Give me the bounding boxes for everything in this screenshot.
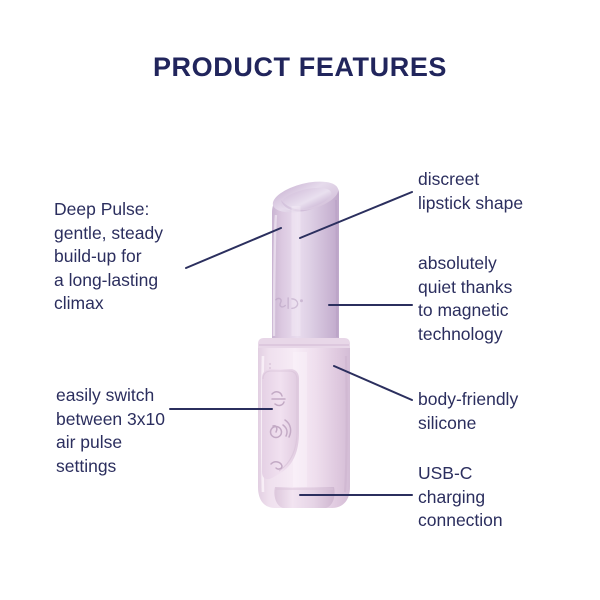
callout-discreet-lipstick-shape: discreet lipstick shape (418, 168, 588, 215)
callout-usb-c-charging: USB-C charging connection (418, 462, 593, 533)
callout-easily-switch: easily switch between 3x10 air pulse set… (56, 384, 231, 478)
callout-magnetic-technology: absolutely quiet thanks to magnetic tech… (418, 252, 593, 346)
leader-discreet (300, 192, 412, 238)
callout-body-friendly-silicone: body-friendly silicone (418, 388, 593, 435)
callout-deep-pulse: Deep Pulse: gentle, steady build-up for … (54, 198, 224, 316)
diagram-canvas: PRODUCT FEATURES (0, 0, 600, 600)
leader-silicone (334, 366, 412, 400)
